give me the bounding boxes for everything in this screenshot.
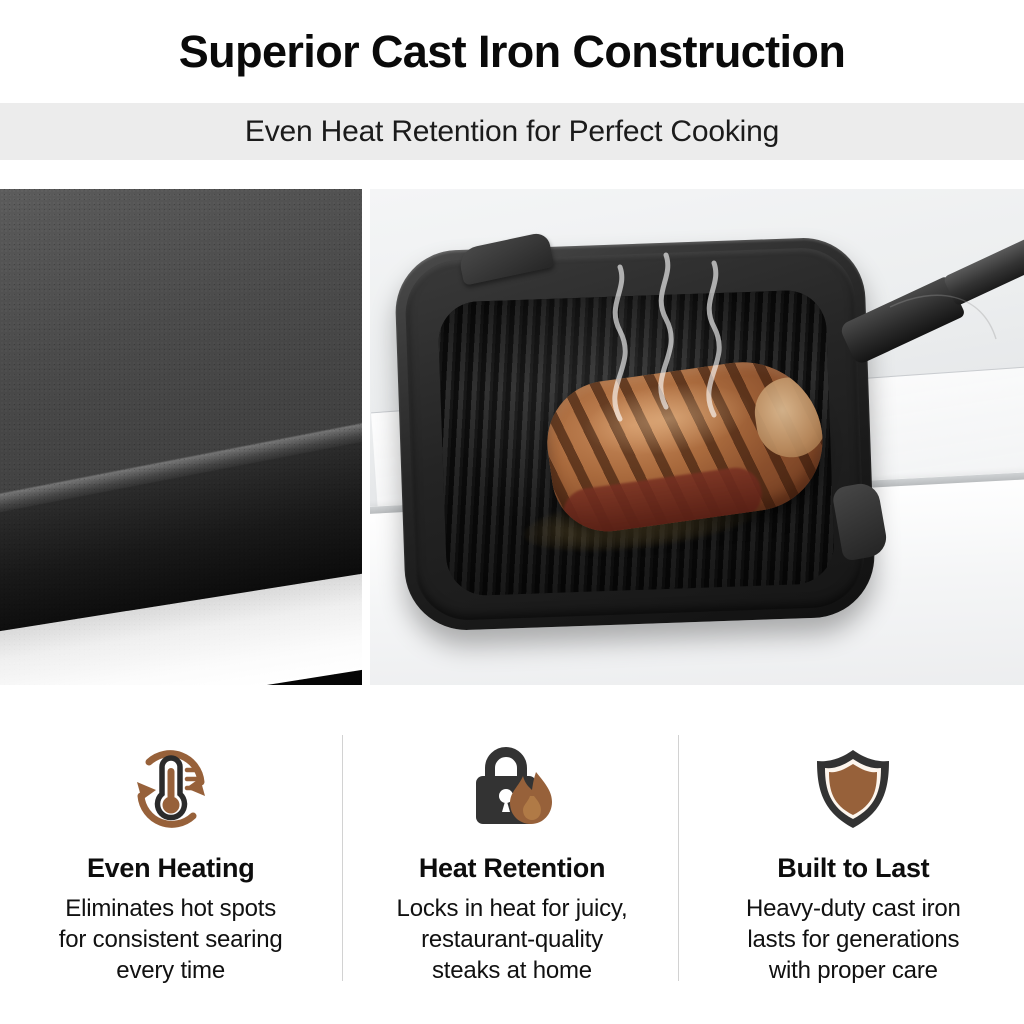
shield-icon [801,736,905,840]
subtitle-band: Even Heat Retention for Perfect Cooking [0,103,1024,160]
grill-pan-steak-photo [370,189,1024,685]
feature-description: Heavy-duty cast iron lasts for generatio… [746,893,961,987]
grill-pan [394,236,877,632]
title-bar: Superior Cast Iron Construction [0,0,1024,103]
feature-title: Heat Retention [419,854,605,884]
cast-iron-texture-photo [0,189,362,685]
feature-built-to-last: Built to Last Heavy-duty cast iron lasts… [683,700,1024,1024]
feature-even-heating: Even Heating Eliminates hot spots for co… [0,700,341,1024]
feature-row: Even Heating Eliminates hot spots for co… [0,700,1024,1024]
infographic-page: Superior Cast Iron Construction Even Hea… [0,0,1024,1024]
iron-grain-texture [0,189,362,685]
page-title: Superior Cast Iron Construction [179,29,845,74]
lock-flame-icon [460,736,564,840]
feature-description: Eliminates hot spots for consistent sear… [59,893,283,987]
pan-handle-steel [943,232,1024,307]
feature-heat-retention: Heat Retention Locks in heat for juicy, … [341,700,682,1024]
image-strip [0,189,1024,685]
thermometer-rotate-icon [119,736,223,840]
feature-title: Built to Last [777,854,929,884]
page-subtitle: Even Heat Retention for Perfect Cooking [245,115,779,149]
feature-description: Locks in heat for juicy, restaurant-qual… [397,893,628,987]
feature-title: Even Heating [87,854,254,884]
